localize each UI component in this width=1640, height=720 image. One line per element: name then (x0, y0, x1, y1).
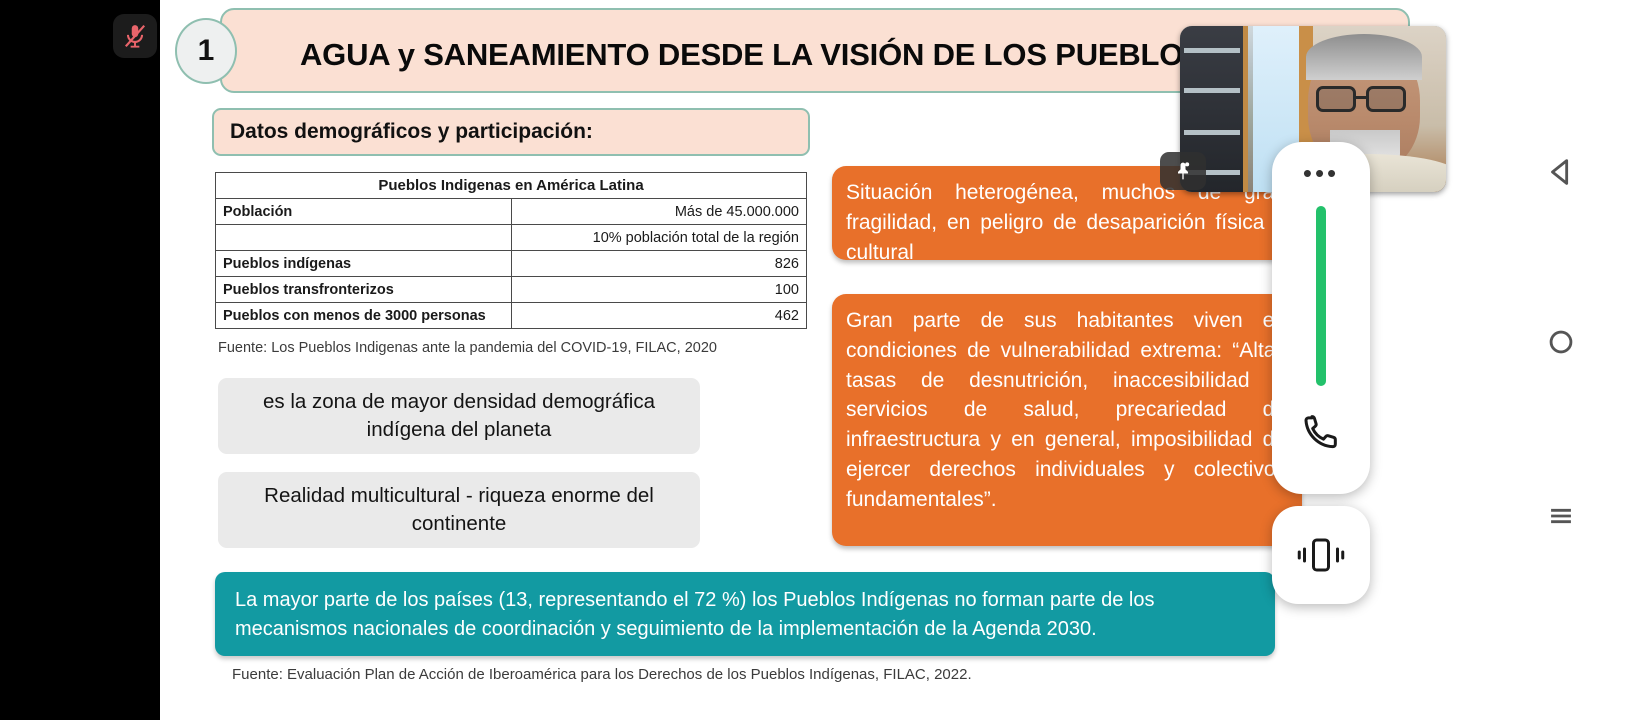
slide-subtitle-band: Datos demográficos y participación: (212, 108, 810, 156)
home-circle-icon[interactable] (1482, 310, 1640, 374)
row-label: Pueblos indígenas (216, 251, 512, 277)
highlight-box-multicultural: Realidad multicultural - riqueza enorme … (218, 472, 700, 548)
row-value: 826 (511, 251, 807, 277)
mic-off-glyph (122, 22, 148, 50)
glasses-left-lens (1316, 86, 1356, 112)
row-value: 100 (511, 277, 807, 303)
vibrate-icon[interactable] (1272, 506, 1370, 604)
callout-box-agenda2030: La mayor parte de los países (13, repres… (215, 572, 1275, 656)
vibrate-glyph (1297, 533, 1345, 577)
screen: AGUA y SANEAMIENTO DESDE LA VISIÓN DE LO… (0, 0, 1640, 720)
row-value: 10% población total de la región (511, 225, 807, 251)
back-triangle-icon[interactable] (1482, 140, 1640, 204)
table-header-row: Pueblos Indigenas en América Latina (216, 173, 807, 199)
phone-icon[interactable] (1301, 412, 1341, 457)
back-glyph (1544, 155, 1578, 189)
teal-source-note: Fuente: Evaluación Plan de Acción de Ibe… (232, 666, 972, 683)
row-label: Pueblos con menos de 3000 personas (216, 303, 512, 329)
microphone-muted-icon[interactable] (113, 14, 157, 58)
row-label (216, 225, 512, 251)
more-options-icon[interactable]: ••• (1303, 166, 1339, 184)
glasses-right-lens (1366, 86, 1406, 112)
slide-number-badge: 1 (175, 18, 237, 84)
table-row: 10% población total de la región (216, 225, 807, 251)
pin-glyph (1173, 160, 1193, 182)
demographics-table-wrap: Pueblos Indigenas en América Latina Pobl… (215, 172, 807, 329)
phone-glyph (1301, 412, 1341, 452)
menu-lines-icon[interactable] (1482, 484, 1640, 548)
recents-glyph (1544, 499, 1578, 533)
table-title: Pueblos Indigenas en América Latina (216, 173, 807, 199)
table-source-note: Fuente: Los Pueblos Indigenas ante la pa… (218, 340, 717, 356)
pin-icon[interactable] (1160, 152, 1206, 190)
volume-slider[interactable] (1316, 206, 1326, 386)
participant-hair (1306, 34, 1422, 80)
table-row: Pueblos transfronterizos 100 (216, 277, 807, 303)
home-glyph (1544, 325, 1578, 359)
table-row: Pueblos indígenas 826 (216, 251, 807, 277)
callout-box-vulnerability: Gran parte de sus habitantes viven en co… (832, 294, 1302, 546)
row-label: Pueblos transfronterizos (216, 277, 512, 303)
row-label: Población (216, 199, 512, 225)
row-value: Más de 45.000.000 (511, 199, 807, 225)
call-control-panel[interactable]: ••• (1272, 142, 1370, 494)
slide-subtitle: Datos demográficos y participación: (214, 120, 593, 144)
table-row: Población Más de 45.000.000 (216, 199, 807, 225)
highlight-box-density: es la zona de mayor densidad demográfica… (218, 378, 700, 454)
table-row: Pueblos con menos de 3000 personas 462 (216, 303, 807, 329)
row-value: 462 (511, 303, 807, 329)
demographics-table: Pueblos Indigenas en América Latina Pobl… (215, 172, 807, 329)
android-navigation-bar (1482, 0, 1640, 720)
glasses-bridge (1356, 96, 1366, 99)
